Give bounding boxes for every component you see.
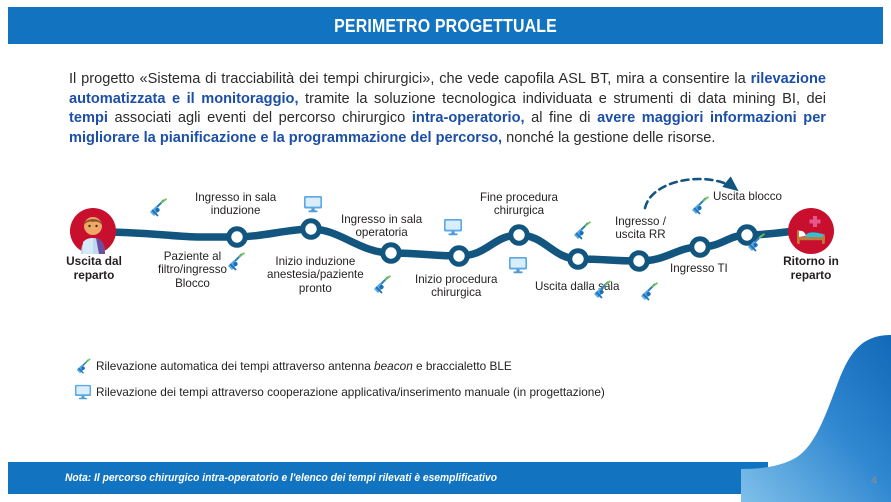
intro-highlight: intra-operatorio, [412,110,525,126]
journey-node-5[interactable] [570,251,586,267]
journey-node-6[interactable] [631,253,647,269]
node-label-9: Uscita blocco [713,190,782,203]
journey-node-7[interactable] [692,239,708,255]
legend-emphasis: beacon [374,359,413,373]
beacon-antenna-icon-7 [746,233,766,258]
beacon-antenna-icon-3 [572,221,592,246]
node-label-1: Ingresso in salainduzione [195,191,276,218]
legend: Rilevazione automatica dei tempi attrave… [70,355,670,407]
beacon-antenna-icon-0 [148,198,168,223]
slide-title-bar: PERIMETRO PROGETTUALE [8,7,883,44]
intro-text: tramite la soluzione tecnologica individ… [299,91,826,107]
monitor-icon-0 [303,195,323,218]
hospital-bed-icon [788,208,834,259]
intro-paragraph: Il progetto «Sistema di tracciabilità de… [69,70,826,148]
footer-bar: Nota: Il percorso chirurgico intra-opera… [8,462,768,494]
monitor-icon-1 [443,218,463,241]
beacon-antenna-icon-6 [639,282,659,307]
legend-item-monitor: Rilevazione dei tempi attraverso coopera… [70,381,670,403]
page-number: 4 [871,475,877,487]
node-label-4: Inizio procedurachirurgica [415,273,498,300]
endpoint-label-end: Ritorno inreparto [764,255,858,282]
node-label-8: Ingresso TI [670,262,728,275]
legend-item-beacon: Rilevazione automatica dei tempi attrave… [70,355,670,377]
monitor-icon-2 [508,256,528,279]
intro-highlight: tempi [69,110,108,126]
beacon-antenna-icon-5 [690,196,710,221]
node-label-5: Fine procedurachirurgica [480,191,558,218]
beacon-antenna-icon-1 [226,252,246,277]
node-label-3: Ingresso in salaoperatoria [341,213,422,240]
monitor-icon [70,384,96,400]
intro-text: associati agli eventi del percorso chiru… [108,110,412,126]
journey-node-0[interactable] [229,229,245,245]
intro-text: al fine di [525,110,598,126]
node-label-7: Ingresso /uscita RR [615,215,666,242]
node-label-0: Paziente alfiltro/ingressoBlocco [158,250,227,290]
beacon-antenna-icon-4 [592,280,612,305]
journey-node-4[interactable] [511,227,527,243]
journey-node-3[interactable] [451,248,467,264]
intro-text: nonché la gestione delle risorse. [502,130,715,146]
beacon-antenna-icon [70,358,96,375]
journey-node-1[interactable] [303,221,319,237]
surgical-journey-diagram: Uscita dalreparto Ritorno inreparto Pazi… [0,160,891,325]
endpoint-label-start: Uscita dalreparto [48,255,140,282]
beacon-antenna-icon-2 [372,275,392,300]
page-title: PERIMETRO PROGETTUALE [334,15,557,37]
node-label-2: Inizio induzioneanestesia/pazientepronto [267,255,364,295]
patient-avatar-icon [70,208,116,259]
legend-item-monitor-label: Rilevazione dei tempi attraverso coopera… [96,385,605,399]
journey-node-2[interactable] [383,245,399,261]
legend-item-beacon-label: Rilevazione automatica dei tempi attrave… [96,359,512,373]
footer-note: Nota: Il percorso chirurgico intra-opera… [65,472,497,484]
intro-text: Il progetto «Sistema di tracciabilità de… [69,71,751,87]
